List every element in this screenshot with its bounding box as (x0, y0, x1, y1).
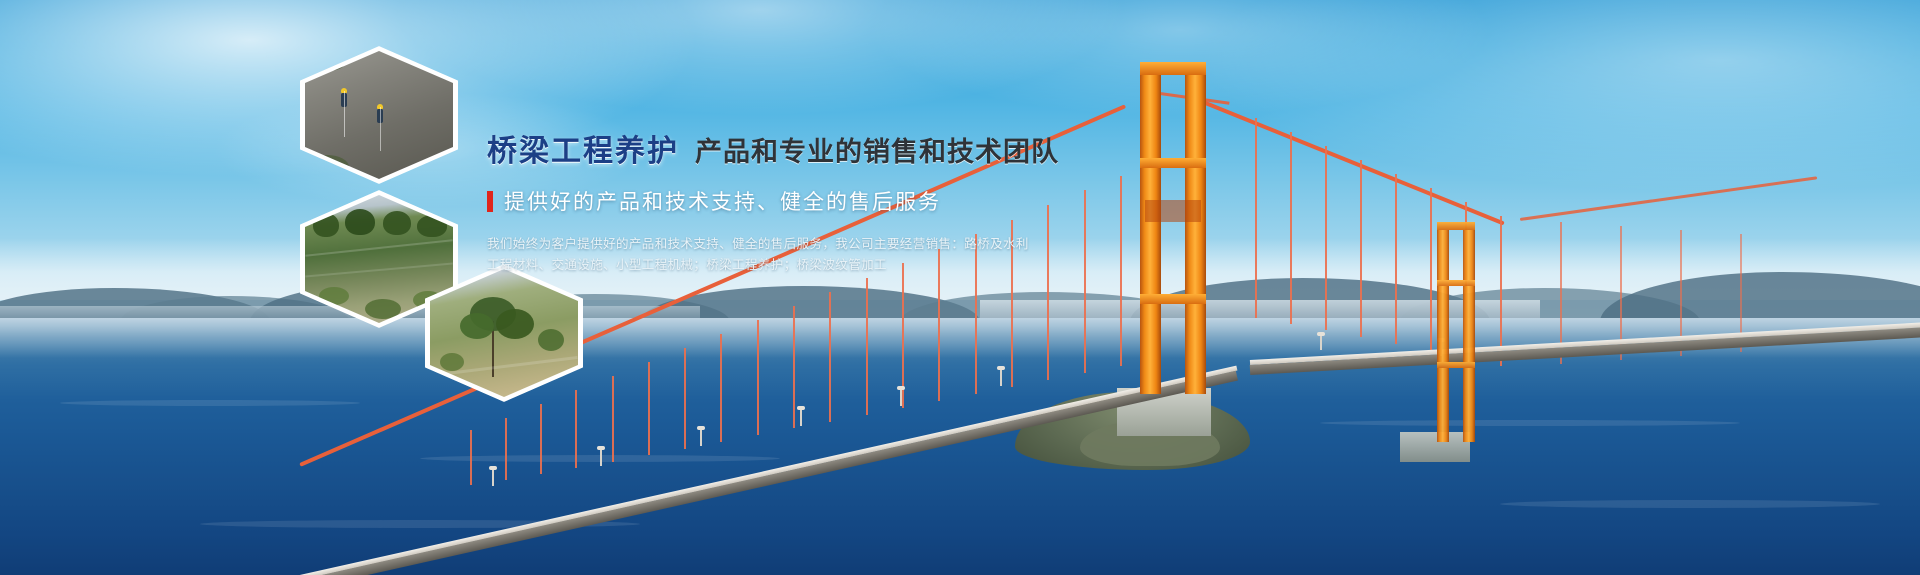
body-line-1: 我们始终为客户提供好的产品和技术支持、健全的售后服务，我公司主要经营销售：路桥及… (487, 234, 1047, 255)
bridge-far-tower (1437, 222, 1475, 442)
body-line-2: 工程材料、交通设施、小型工程机械；桥梁工程养护；桥梁波纹管加工 (487, 255, 1047, 276)
banner-copy: 桥梁工程养护 产品和专业的销售和技术团队 提供好的产品和技术支持、健全的售后服务… (487, 126, 1047, 276)
accent-bar (487, 191, 493, 212)
headline-secondary: 产品和专业的销售和技术团队 (695, 130, 1059, 169)
headline-row: 桥梁工程养护 产品和专业的销售和技术团队 (487, 126, 1047, 170)
body-paragraph: 我们始终为客户提供好的产品和技术支持、健全的售后服务，我公司主要经营销售：路桥及… (487, 234, 1047, 276)
subtitle-row: 提供好的产品和技术支持、健全的售后服务 (487, 186, 1047, 216)
hero-banner: 桥梁工程养护 产品和专业的销售和技术团队 提供好的产品和技术支持、健全的售后服务… (0, 0, 1920, 575)
bridge-main-tower (1140, 62, 1206, 394)
subtitle-text: 提供好的产品和技术支持、健全的售后服务 (504, 186, 941, 216)
headline-primary: 桥梁工程养护 (487, 126, 679, 170)
